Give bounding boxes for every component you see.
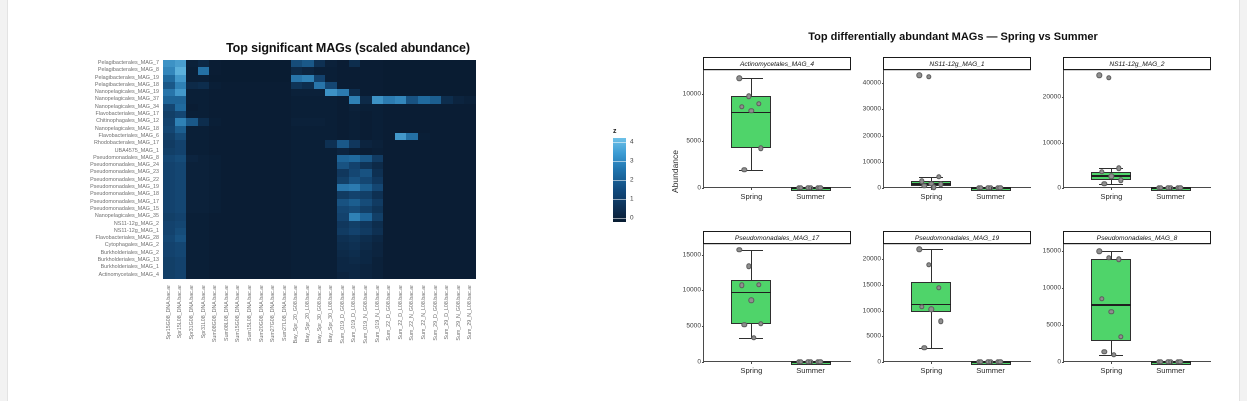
- heatmap-cell: [349, 82, 361, 89]
- plot-top-rule: [704, 244, 851, 245]
- heatmap-cell: [430, 82, 442, 89]
- heatmap-cell: [186, 96, 198, 103]
- heatmap-cell: [453, 82, 465, 89]
- heatmap-cell: [395, 133, 407, 140]
- data-point: [1097, 249, 1102, 254]
- heatmap-cell: [163, 228, 175, 235]
- heatmap-legend: z 43210: [613, 128, 626, 222]
- heatmap-cell: [267, 228, 279, 235]
- heatmap-cell: [337, 96, 349, 103]
- heatmap-cell: [360, 191, 372, 198]
- heatmap-cell: [233, 140, 245, 147]
- heatmap-cell: [244, 104, 256, 111]
- facet-strip-label: Actinomycetales_MAG_4: [703, 57, 851, 70]
- heatmap-cell: [453, 199, 465, 206]
- data-point: [758, 146, 763, 151]
- heatmap-column-label: Sum_29_D_L08.bac.ar: [444, 285, 450, 339]
- heatmap-row-label: Flavobacteriales_MAG_6: [0, 133, 161, 140]
- heatmap-cell: [441, 133, 453, 140]
- heatmap-cell: [406, 111, 418, 118]
- heatmap-cell: [175, 89, 187, 96]
- heatmap-cell: [395, 155, 407, 162]
- heatmap-cell: [198, 67, 210, 74]
- x-tick-mark: [931, 187, 932, 190]
- heatmap-cell: [314, 250, 326, 257]
- heatmap-cell: [383, 89, 395, 96]
- heatmap-cell: [441, 89, 453, 96]
- heatmap-row: [163, 257, 476, 264]
- y-tick-mark: [882, 311, 885, 312]
- heatmap-cell: [464, 75, 476, 82]
- x-tick-mark: [1111, 187, 1112, 190]
- heatmap-cell: [337, 206, 349, 213]
- heatmap-cell: [406, 60, 418, 67]
- heatmap-cell: [175, 162, 187, 169]
- heatmap-cell: [441, 96, 453, 103]
- heatmap-cell: [209, 155, 221, 162]
- heatmap-row: [163, 235, 476, 242]
- heatmap-cell: [256, 221, 268, 228]
- heatmap-cell: [325, 169, 337, 176]
- heatmap-column-label: Sum08G08_DNA.bac.ar: [212, 285, 218, 342]
- heatmap-cell: [464, 162, 476, 169]
- data-point: [741, 322, 746, 327]
- heatmap-row-label: Burkholderiales_MAG_1: [0, 264, 161, 271]
- heatmap-row-label: Pseudomonadales_MAG_8: [0, 155, 161, 162]
- heatmap-cell: [383, 221, 395, 228]
- x-tick-label: Spring: [1100, 366, 1122, 375]
- heatmap-cell: [244, 184, 256, 191]
- heatmap-cell: [337, 67, 349, 74]
- heatmap-cell: [406, 82, 418, 89]
- heatmap-row: [163, 221, 476, 228]
- heatmap-cell: [406, 257, 418, 264]
- x-tick-label: Spring: [920, 366, 942, 375]
- heatmap-cell: [244, 250, 256, 257]
- whisker-cap: [739, 250, 763, 251]
- heatmap-cell: [349, 221, 361, 228]
- heatmap-row-label: UBA4575_MAG_1: [0, 148, 161, 155]
- heatmap-cell: [372, 221, 384, 228]
- legend-tick-mark: [613, 161, 626, 162]
- heatmap-cell: [406, 162, 418, 169]
- heatmap-cell: [221, 148, 233, 155]
- heatmap-cell: [337, 250, 349, 257]
- heatmap-cell: [279, 60, 291, 67]
- heatmap-cell: [302, 191, 314, 198]
- heatmap-column-label: Sum_29_D_G08.bac.ar: [433, 285, 439, 341]
- heatmap-cell: [279, 235, 291, 242]
- heatmap-row: [163, 177, 476, 184]
- heatmap-cell: [209, 169, 221, 176]
- heatmap-cell: [198, 199, 210, 206]
- heatmap-cell: [221, 213, 233, 220]
- median-line: [1091, 304, 1131, 306]
- heatmap-cell: [221, 162, 233, 169]
- heatmap-cell: [453, 206, 465, 213]
- heatmap-row-label: Nanopelagicales_MAG_37: [0, 96, 161, 103]
- heatmap-cell: [395, 213, 407, 220]
- heatmap-cell: [244, 213, 256, 220]
- heatmap-cell: [163, 272, 175, 279]
- heatmap-cell: [233, 250, 245, 257]
- heatmap-cell: [383, 148, 395, 155]
- heatmap-cell: [372, 272, 384, 279]
- data-point: [938, 319, 943, 324]
- heatmap-cell: [349, 257, 361, 264]
- heatmap-cell: [279, 82, 291, 89]
- heatmap-cell: [383, 104, 395, 111]
- heatmap-cell: [198, 162, 210, 169]
- x-tick-label: Summer: [796, 192, 825, 201]
- heatmap-cell: [314, 184, 326, 191]
- y-tick-mark: [702, 94, 705, 95]
- heatmap-cell: [198, 228, 210, 235]
- heatmap-cell: [302, 140, 314, 147]
- heatmap-cell: [209, 96, 221, 103]
- heatmap-cell: [256, 228, 268, 235]
- heatmap-cell: [441, 155, 453, 162]
- x-tick-label: Summer: [1156, 366, 1185, 375]
- heatmap-cell: [406, 75, 418, 82]
- heatmap-cell: [360, 104, 372, 111]
- heatmap-cell: [302, 184, 314, 191]
- heatmap-cell: [267, 133, 279, 140]
- heatmap-cell: [314, 104, 326, 111]
- heatmap-cell: [279, 257, 291, 264]
- x-tick-label: Summer: [796, 366, 825, 375]
- heatmap-cell: [267, 111, 279, 118]
- heatmap-cell: [406, 250, 418, 257]
- heatmap-cell: [418, 148, 430, 155]
- heatmap-cell: [372, 67, 384, 74]
- heatmap-cell: [337, 126, 349, 133]
- heatmap-cell: [267, 264, 279, 271]
- heatmap-cell: [383, 235, 395, 242]
- heatmap-cell: [221, 89, 233, 96]
- heatmap-cell: [221, 126, 233, 133]
- heatmap-cell: [244, 126, 256, 133]
- x-tick-label: Summer: [976, 366, 1005, 375]
- heatmap-cell: [209, 250, 221, 257]
- data-point: [1101, 349, 1106, 354]
- heatmap-cell: [198, 60, 210, 67]
- heatmap-cell: [221, 169, 233, 176]
- heatmap-cell: [430, 257, 442, 264]
- heatmap-cell: [302, 272, 314, 279]
- heatmap-cell: [325, 140, 337, 147]
- heatmap-cell: [464, 206, 476, 213]
- heatmap-cell: [198, 96, 210, 103]
- heatmap-cell: [372, 191, 384, 198]
- heatmap-cell: [314, 111, 326, 118]
- y-tick-mark: [702, 290, 705, 291]
- heatmap-cell: [279, 133, 291, 140]
- heatmap-cell: [406, 242, 418, 249]
- heatmap-cell: [418, 257, 430, 264]
- y-tick-label: 10000: [1043, 139, 1061, 146]
- heatmap-cell: [430, 184, 442, 191]
- y-tick-label: 5000: [686, 137, 701, 144]
- heatmap-cell: [395, 126, 407, 133]
- heatmap-cell: [209, 89, 221, 96]
- heatmap-cell: [395, 250, 407, 257]
- heatmap-cell: [175, 111, 187, 118]
- heatmap-cell: [163, 235, 175, 242]
- x-tick-mark: [1111, 361, 1112, 364]
- heatmap-cell: [256, 118, 268, 125]
- heatmap-cell: [256, 191, 268, 198]
- heatmap-cell: [198, 104, 210, 111]
- heatmap-panel: Top significant MAGs (scaled abundance) …: [0, 0, 665, 401]
- heatmap-cell: [256, 257, 268, 264]
- heatmap-cell: [175, 199, 187, 206]
- heatmap-cell: [209, 126, 221, 133]
- y-tick-label: 20000: [1043, 94, 1061, 101]
- heatmap-row: [163, 140, 476, 147]
- heatmap-cell: [453, 96, 465, 103]
- heatmap-cell: [233, 242, 245, 249]
- heatmap-cell: [349, 213, 361, 220]
- heatmap-cell: [430, 155, 442, 162]
- heatmap-cell: [244, 67, 256, 74]
- heatmap-row-label: Flavobacteriales_MAG_17: [0, 111, 161, 118]
- data-point: [1111, 352, 1116, 357]
- heatmap-cell: [256, 264, 268, 271]
- heatmap-cell: [406, 67, 418, 74]
- heatmap-row: [163, 155, 476, 162]
- heatmap-cell: [256, 89, 268, 96]
- heatmap-row: [163, 133, 476, 140]
- heatmap-cell: [337, 104, 349, 111]
- y-tick-mark: [702, 326, 705, 327]
- heatmap-cell: [198, 257, 210, 264]
- heatmap-cell: [453, 169, 465, 176]
- heatmap-cell: [360, 111, 372, 118]
- heatmap-cell: [186, 60, 198, 67]
- heatmap-cell: [464, 242, 476, 249]
- heatmap-cell: [360, 264, 372, 271]
- facet-plot-area: 01000020000SpringSummer: [1063, 70, 1211, 188]
- heatmap-cell: [383, 82, 395, 89]
- legend-tick-label: 4: [630, 139, 634, 146]
- legend-tick-label: 1: [630, 196, 634, 203]
- heatmap-cell: [395, 67, 407, 74]
- heatmap-row-label-column: Pelagibacterales_MAG_7Pelagibacterales_M…: [0, 60, 161, 279]
- heatmap-cell: [349, 140, 361, 147]
- heatmap-row-label: Nanopelagicales_MAG_35: [0, 213, 161, 220]
- data-point: [917, 246, 922, 251]
- heatmap-cell: [314, 221, 326, 228]
- heatmap-cell: [406, 96, 418, 103]
- heatmap-cell: [453, 155, 465, 162]
- heatmap-cell: [430, 162, 442, 169]
- heatmap-cell: [302, 155, 314, 162]
- heatmap-cell: [395, 184, 407, 191]
- heatmap-cell: [233, 126, 245, 133]
- heatmap-cell: [233, 118, 245, 125]
- heatmap-cell: [209, 199, 221, 206]
- heatmap-cell: [267, 206, 279, 213]
- heatmap-cell: [198, 169, 210, 176]
- heatmap-row: [163, 148, 476, 155]
- legend-tick-mark: [613, 218, 626, 219]
- heatmap-cell: [221, 104, 233, 111]
- data-point: [938, 182, 943, 187]
- facet: Pseudomonadales_MAG_17050001000015000Spr…: [703, 231, 851, 362]
- y-tick-mark: [882, 285, 885, 286]
- heatmap-cell: [291, 250, 303, 257]
- heatmap-cell: [430, 133, 442, 140]
- heatmap-cell: [233, 177, 245, 184]
- x-tick-label: Spring: [740, 366, 762, 375]
- heatmap-cell: [279, 155, 291, 162]
- heatmap-cell: [244, 89, 256, 96]
- heatmap-cell: [464, 133, 476, 140]
- heatmap-cell: [325, 126, 337, 133]
- heatmap-cell: [267, 104, 279, 111]
- heatmap-cell: [291, 257, 303, 264]
- heatmap-cell: [453, 264, 465, 271]
- heatmap-cell: [209, 242, 221, 249]
- x-tick-mark: [751, 361, 752, 364]
- heatmap-cell: [314, 96, 326, 103]
- heatmap-cell: [325, 162, 337, 169]
- heatmap-cell: [163, 111, 175, 118]
- heatmap-cell: [267, 118, 279, 125]
- heatmap-cell: [244, 257, 256, 264]
- heatmap-cell: [291, 67, 303, 74]
- data-point: [751, 335, 756, 340]
- heatmap-cell: [175, 213, 187, 220]
- facet: Pseudomonadales_MAG_8050001000015000Spri…: [1063, 231, 1211, 362]
- heatmap-cell: [291, 264, 303, 271]
- heatmap-cell: [198, 235, 210, 242]
- heatmap-cell: [314, 228, 326, 235]
- heatmap-cell: [233, 257, 245, 264]
- heatmap-cell: [186, 177, 198, 184]
- heatmap-cell: [244, 199, 256, 206]
- heatmap-cell: [430, 111, 442, 118]
- heatmap-cell: [175, 155, 187, 162]
- heatmap-cell: [349, 199, 361, 206]
- heatmap-cell: [163, 169, 175, 176]
- heatmap-cell: [349, 206, 361, 213]
- heatmap-cell: [372, 162, 384, 169]
- heatmap-cell: [244, 140, 256, 147]
- heatmap-row: [163, 96, 476, 103]
- heatmap-cell: [256, 96, 268, 103]
- heatmap-cell: [349, 169, 361, 176]
- heatmap-row: [163, 272, 476, 279]
- heatmap-row: [163, 126, 476, 133]
- y-tick-mark: [702, 141, 705, 142]
- heatmap-cell: [256, 60, 268, 67]
- heatmap-cell: [314, 75, 326, 82]
- heatmap-cell: [209, 191, 221, 198]
- heatmap-cell: [175, 184, 187, 191]
- heatmap-cell: [209, 177, 221, 184]
- heatmap-cell: [279, 140, 291, 147]
- heatmap-cell: [395, 235, 407, 242]
- heatmap-row-label: Pelagibacterales_MAG_7: [0, 60, 161, 67]
- heatmap-cell: [233, 155, 245, 162]
- heatmap-cell: [175, 242, 187, 249]
- y-tick-label: 0: [1057, 359, 1061, 366]
- heatmap-cell: [221, 67, 233, 74]
- heatmap-cell: [383, 67, 395, 74]
- heatmap-cell: [198, 82, 210, 89]
- heatmap-cell: [233, 169, 245, 176]
- heatmap-cell: [244, 155, 256, 162]
- heatmap-cell: [464, 126, 476, 133]
- legend-tick-mark: [613, 142, 626, 143]
- heatmap-cell: [163, 206, 175, 213]
- heatmap-cell: [163, 148, 175, 155]
- heatmap-cell: [163, 89, 175, 96]
- heatmap-cell: [430, 60, 442, 67]
- heatmap-cell: [383, 228, 395, 235]
- heatmap-cell: [314, 213, 326, 220]
- heatmap-cell: [233, 96, 245, 103]
- heatmap-cell: [163, 221, 175, 228]
- heatmap-cell: [314, 82, 326, 89]
- heatmap-cell: [279, 148, 291, 155]
- heatmap-cell: [291, 60, 303, 67]
- heatmap-cell: [244, 272, 256, 279]
- heatmap-cell: [349, 242, 361, 249]
- heatmap-cell: [441, 199, 453, 206]
- heatmap-cell: [291, 184, 303, 191]
- heatmap-cell: [209, 235, 221, 242]
- heatmap-cell: [233, 67, 245, 74]
- heatmap-cell: [453, 126, 465, 133]
- heatmap-cell: [325, 235, 337, 242]
- heatmap-cell: [221, 264, 233, 271]
- heatmap-cell: [441, 206, 453, 213]
- heatmap-cell: [453, 213, 465, 220]
- heatmap-cell: [418, 250, 430, 257]
- data-point: [1106, 75, 1111, 80]
- heatmap-cell: [186, 140, 198, 147]
- y-tick-mark: [1062, 97, 1065, 98]
- median-line: [731, 292, 771, 294]
- x-tick-mark: [991, 187, 992, 190]
- heatmap-cell: [372, 82, 384, 89]
- heatmap-cell: [360, 118, 372, 125]
- heatmap-cell: [453, 118, 465, 125]
- heatmap-row-label: Burkholderiales_MAG_13: [0, 257, 161, 264]
- heatmap-cell: [418, 133, 430, 140]
- heatmap-cell: [175, 126, 187, 133]
- heatmap-cell: [233, 162, 245, 169]
- heatmap-row: [163, 118, 476, 125]
- heatmap-cell: [360, 89, 372, 96]
- heatmap-cell: [244, 169, 256, 176]
- heatmap-cell: [418, 272, 430, 279]
- heatmap-cell: [406, 221, 418, 228]
- heatmap-cell: [209, 60, 221, 67]
- heatmap-column-label: Bay_Spr_30_L08.bac.ar: [328, 285, 334, 342]
- y-tick-label: 10000: [683, 90, 701, 97]
- heatmap-cell: [360, 133, 372, 140]
- heatmap-cell: [337, 177, 349, 184]
- heatmap-row: [163, 250, 476, 257]
- data-point: [936, 174, 941, 179]
- heatmap-cell: [337, 213, 349, 220]
- heatmap-cell: [441, 60, 453, 67]
- heatmap-cell: [325, 228, 337, 235]
